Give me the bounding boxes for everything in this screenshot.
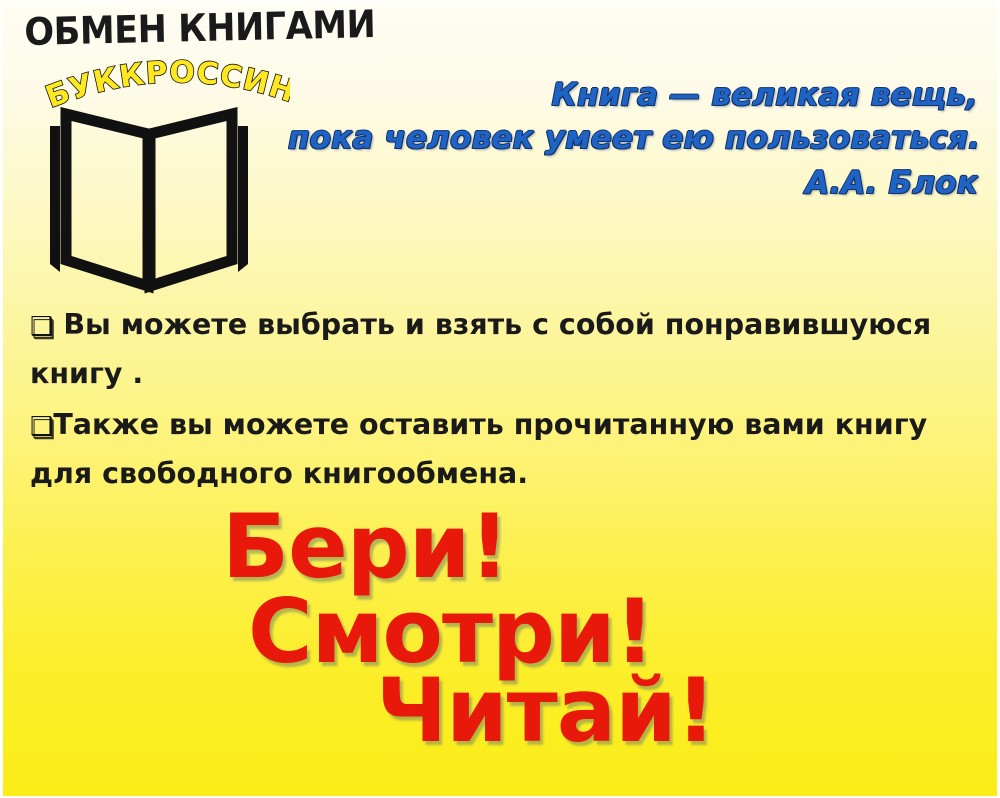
list-item: ❑Также вы можете оставить прочитанную ва…: [30, 400, 980, 498]
poster-bookcrossing: ОБМЕН КНИГАМИ БУККРОССИНГ: [0, 0, 1000, 798]
cta-line-read: Читай!: [376, 667, 715, 755]
checkbox-bullet-icon: ❑: [30, 414, 53, 440]
poster-title: ОБМЕН КНИГАМИ: [24, 4, 282, 54]
quote-author: А.А. Блок: [288, 162, 978, 205]
list-item: ❑Вы можете выбрать и взять с собой понра…: [30, 300, 980, 398]
quote-line-1: Книга — великая вещь,: [288, 74, 978, 117]
open-book-icon: [44, 100, 254, 295]
list-item-line-1: Также вы можете оставить прочитанную вам…: [53, 408, 927, 441]
list-item-line-1: Вы можете выбрать и взять с собой понрав…: [63, 308, 931, 341]
quote-line-2: пока человек умеет ею пользоваться.: [288, 117, 978, 160]
bullet-list: ❑Вы можете выбрать и взять с собой понра…: [30, 300, 980, 500]
cta-line-take: Бери!: [222, 503, 509, 591]
list-item-line-2: для свободного книгообмена.: [30, 449, 980, 498]
quote-block: Книга — великая вещь, пока человек умеет…: [288, 74, 978, 205]
checkbox-bullet-icon: ❑: [30, 314, 53, 340]
list-item-line-2: книгу .: [30, 349, 980, 398]
